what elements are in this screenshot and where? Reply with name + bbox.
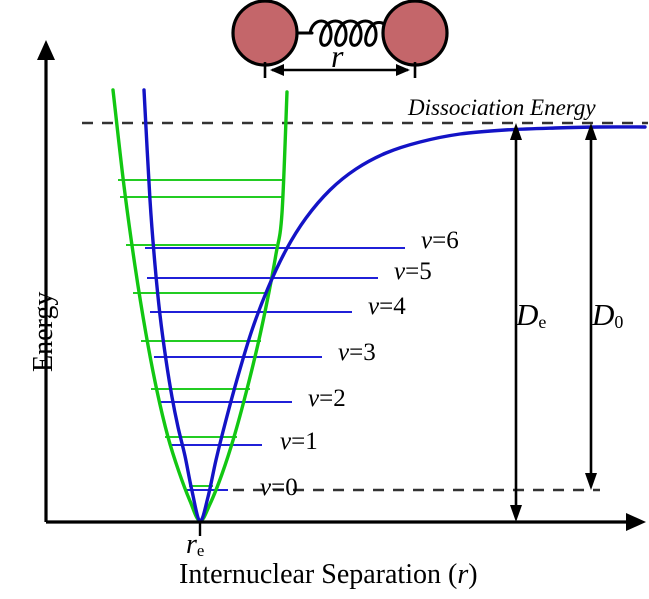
x-axis-label-close: ) (468, 559, 477, 590)
level-equals: = (379, 293, 393, 320)
level-number: 6 (446, 227, 459, 254)
potential-energy-diagram (0, 0, 649, 599)
vibrational-level-label-v3: v=3 (338, 340, 376, 365)
level-number: 0 (285, 474, 298, 501)
re-subscript: e (197, 541, 204, 560)
level-number: 1 (305, 428, 318, 455)
vibrational-level-label-v4: v=4 (368, 294, 406, 319)
x-axis-label-var: r (457, 559, 468, 590)
y-axis-arrowhead (37, 40, 55, 60)
level-number: 4 (393, 293, 406, 320)
vibrational-level-label-v2: v=2 (308, 386, 346, 411)
bond-length-symbol: r (331, 38, 343, 74)
d0-label: D0 (592, 299, 623, 331)
level-equals: = (271, 474, 285, 501)
d0-subscript: 0 (614, 312, 623, 332)
vibrational-level-label-v1: v=1 (280, 429, 318, 454)
level-symbol: v (338, 339, 349, 366)
de-symbol: D (516, 297, 538, 332)
level-equals: = (432, 227, 446, 254)
d0-symbol: D (592, 297, 614, 332)
level-symbol: v (280, 428, 291, 455)
level-symbol: v (308, 385, 319, 412)
vibrational-level-label-v6: v=6 (421, 228, 459, 253)
level-equals: = (319, 385, 333, 412)
equilibrium-distance-label: re (186, 531, 204, 560)
re-symbol: r (186, 529, 197, 560)
level-symbol: v (394, 258, 405, 285)
energy-arrowhead-bottom-0 (510, 505, 522, 522)
level-number: 2 (333, 385, 346, 412)
y-axis-label: Energy (30, 292, 58, 372)
spring-coil (310, 21, 389, 45)
de-label: De (516, 299, 546, 331)
bond-length-label: r (331, 40, 343, 72)
level-symbol: v (260, 474, 271, 501)
figure-canvas: Dissociation Energy De D0 re r Internucl… (0, 0, 649, 599)
x-axis-arrowhead (626, 513, 646, 531)
energy-arrowhead-top-0 (510, 123, 522, 140)
level-number: 5 (419, 258, 432, 285)
dissociation-energy-label: Dissociation Energy (408, 96, 596, 119)
level-equals: = (405, 258, 419, 285)
vibrational-level-label-v5: v=5 (394, 259, 432, 284)
level-equals: = (349, 339, 363, 366)
de-subscript: e (538, 312, 546, 332)
energy-arrowhead-bottom-1 (585, 473, 597, 490)
x-axis-label-text: Internuclear Separation ( (179, 559, 457, 590)
level-equals: = (291, 428, 305, 455)
x-axis-label: Internuclear Separation (r) (179, 561, 478, 589)
level-number: 3 (363, 339, 376, 366)
level-symbol: v (368, 293, 379, 320)
atom-left (233, 1, 297, 65)
atom-right (383, 1, 447, 65)
level-symbol: v (421, 227, 432, 254)
vibrational-level-label-v0: v=0 (260, 475, 298, 500)
